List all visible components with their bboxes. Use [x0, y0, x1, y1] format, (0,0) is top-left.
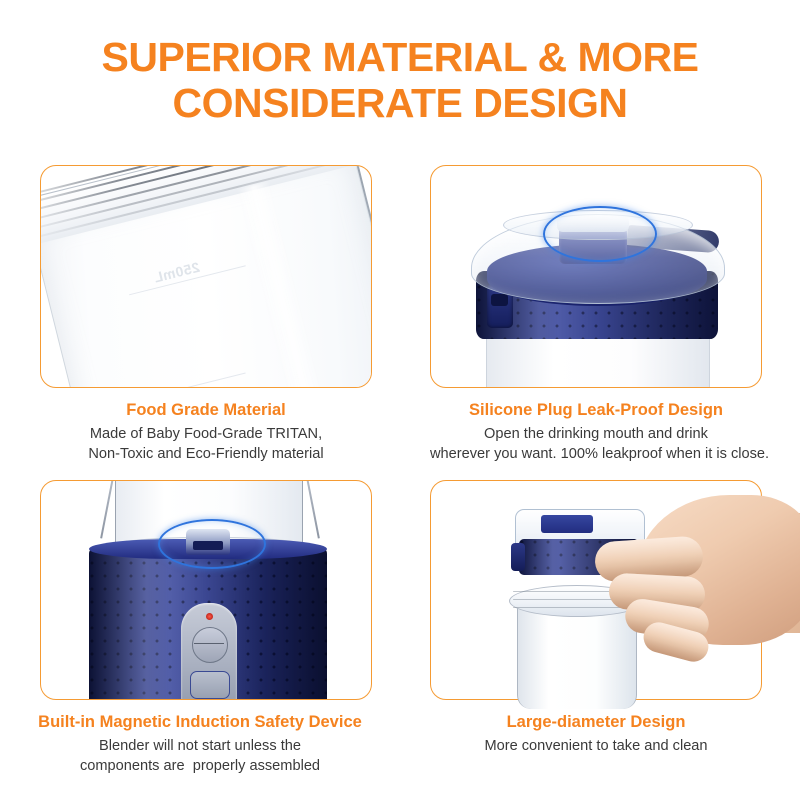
- bottle-body: [486, 334, 710, 388]
- feature-image-frame-food-grade-material: 250mL 150mL: [40, 165, 372, 388]
- carry-handle: [100, 480, 116, 539]
- feature-caption-large-diameter: Large-diameter Design More convenient to…: [430, 712, 762, 756]
- feature-description-line-1: Open the drinking mouth and drink: [430, 424, 762, 444]
- lid-clip-slot: [491, 294, 508, 306]
- feature-caption-magnetic-induction: Built-in Magnetic Induction Safety Devic…: [0, 712, 400, 776]
- power-button[interactable]: [192, 627, 228, 663]
- feature-description-line-1: Blender will not start unless the: [0, 736, 400, 756]
- feature-description-line-2: Non-Toxic and Eco-Friendly material: [40, 444, 372, 464]
- feature-caption-silicone-plug: Silicone Plug Leak-Proof Design Open the…: [430, 400, 762, 464]
- feature-description: More convenient to take and clean: [430, 736, 762, 756]
- feature-image-frame-large-diameter: [430, 480, 762, 700]
- highlight-ellipse-icon: [158, 519, 266, 569]
- power-led-indicator: [206, 613, 213, 620]
- lid-side-clip: [511, 543, 525, 571]
- feature-title: Food Grade Material: [40, 400, 372, 420]
- page-title-line-2: CONSIDERATE DESIGN: [0, 80, 800, 126]
- feature-description: Open the drinking mouth and drink wherev…: [430, 424, 762, 464]
- feature-title: Built-in Magnetic Induction Safety Devic…: [0, 712, 400, 732]
- feature-title: Silicone Plug Leak-Proof Design: [430, 400, 762, 420]
- feature-description: Made of Baby Food-Grade TRITAN, Non-Toxi…: [40, 424, 372, 464]
- feature-description-line-1: More convenient to take and clean: [430, 736, 762, 756]
- page-title: SUPERIOR MATERIAL & MORE CONSIDERATE DES…: [0, 34, 800, 126]
- tritan-bottle-illustration: 250mL 150mL: [40, 165, 372, 388]
- feature-description-line-1: Made of Baby Food-Grade TRITAN,: [40, 424, 372, 444]
- blender-base-illustration: [41, 481, 372, 700]
- feature-title: Large-diameter Design: [430, 712, 762, 732]
- carry-handle: [304, 480, 320, 539]
- infographic-page: SUPERIOR MATERIAL & MORE CONSIDERATE DES…: [0, 0, 800, 800]
- feature-caption-food-grade-material: Food Grade Material Made of Baby Food-Gr…: [40, 400, 372, 464]
- feature-image-frame-magnetic-induction: [40, 480, 372, 700]
- feature-image-frame-silicone-plug: [430, 165, 762, 388]
- feature-description-line-2: wherever you want. 100% leakproof when i…: [430, 444, 762, 464]
- power-button-line: [194, 643, 224, 644]
- highlight-ellipse-icon: [543, 206, 657, 262]
- feature-description: Blender will not start unless the compon…: [0, 736, 400, 776]
- hand-photo: [581, 491, 800, 673]
- blender-lid-illustration: [431, 166, 762, 388]
- page-title-line-1: SUPERIOR MATERIAL & MORE: [102, 34, 699, 80]
- secondary-button[interactable]: [190, 671, 230, 699]
- feature-description-line-2: components are properly assembled: [0, 756, 400, 776]
- hand-holding-lid-illustration: [431, 481, 763, 701]
